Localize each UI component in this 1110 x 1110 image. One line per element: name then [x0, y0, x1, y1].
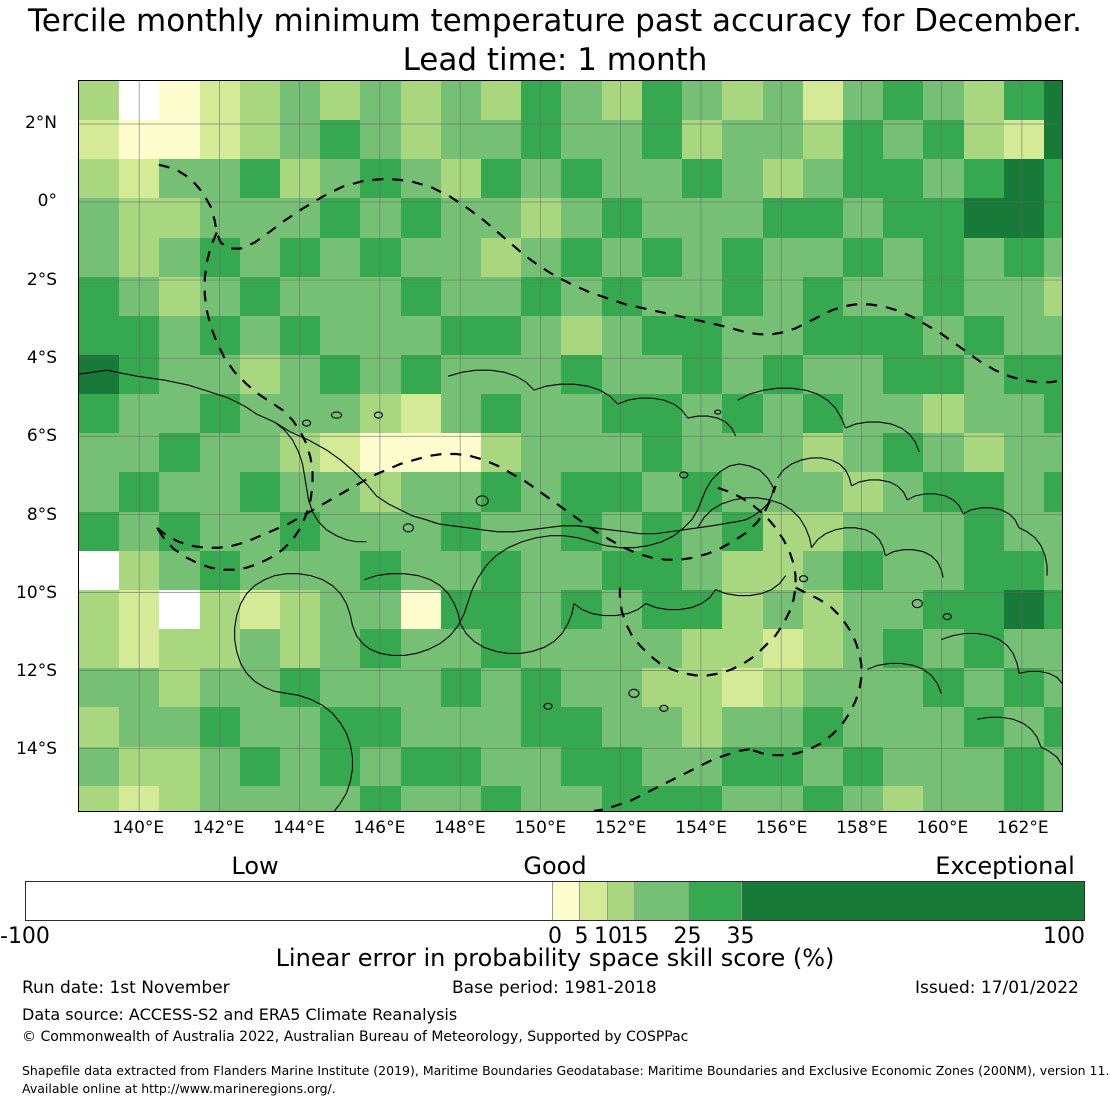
grid-cell — [843, 472, 884, 512]
grid-cell — [964, 512, 1005, 552]
grid-cell — [481, 198, 522, 238]
grid-cell — [964, 159, 1005, 199]
grid-cell — [401, 433, 442, 473]
grid-cell — [803, 316, 844, 356]
shapefile-line-1: Shapefile data extracted from Flanders M… — [22, 1062, 1109, 1080]
grid-cell — [159, 81, 200, 121]
grid-cell — [360, 394, 401, 434]
grid-cell — [561, 394, 602, 434]
grid-cell — [642, 394, 683, 434]
grid-cell — [401, 277, 442, 317]
grid-cell — [964, 707, 1005, 747]
grid-cell — [200, 316, 241, 356]
grid-cell — [521, 238, 562, 278]
grid-cell — [79, 316, 120, 356]
grid-cell — [79, 629, 120, 669]
grid-cell — [722, 512, 763, 552]
grid-cell — [401, 316, 442, 356]
grid-cell — [200, 472, 241, 512]
grid-cell — [441, 238, 482, 278]
grid-cell — [280, 433, 321, 473]
grid-cell — [481, 316, 522, 356]
grid-cell — [602, 707, 643, 747]
colorbar-segment — [580, 882, 607, 920]
colorbar-category-label: Exceptional — [935, 852, 1075, 880]
grid-cell — [320, 394, 361, 434]
grid-cell — [763, 747, 804, 787]
grid-cell — [280, 277, 321, 317]
grid-cell — [883, 394, 924, 434]
grid-cell — [119, 120, 160, 160]
grid-cell — [240, 707, 281, 747]
grid-cell — [964, 472, 1005, 512]
grid-cell — [481, 590, 522, 630]
grid-cell — [360, 551, 401, 591]
grid-cell — [119, 747, 160, 787]
grid-cell — [1004, 590, 1045, 630]
grid-cell — [79, 159, 120, 199]
grid-cell — [883, 747, 924, 787]
grid-cell — [763, 198, 804, 238]
grid-cell — [843, 629, 884, 669]
grid-cell — [360, 629, 401, 669]
grid-cell — [119, 198, 160, 238]
grid-cell — [79, 355, 120, 395]
grid-cell — [923, 747, 964, 787]
lon-tick-label: 152°E — [595, 818, 647, 838]
grid-cell — [119, 394, 160, 434]
grid-cell — [843, 355, 884, 395]
grid-cell — [561, 433, 602, 473]
grid-cell — [401, 747, 442, 787]
grid-cell — [642, 120, 683, 160]
grid-cell — [320, 629, 361, 669]
grid-cell — [561, 355, 602, 395]
grid-cell — [964, 629, 1005, 669]
grid-cell — [1044, 472, 1063, 512]
grid-cell — [1044, 512, 1063, 552]
grid-cell — [561, 159, 602, 199]
grid-cell — [722, 786, 763, 812]
grid-cell — [843, 159, 884, 199]
grid-cell — [682, 198, 723, 238]
grid-cell — [682, 590, 723, 630]
lon-tick-label: 144°E — [273, 818, 325, 838]
grid-cell — [200, 433, 241, 473]
grid-cell — [561, 120, 602, 160]
grid-cell — [441, 316, 482, 356]
lat-tick-label: 4°S — [27, 348, 57, 368]
grid-cell — [200, 159, 241, 199]
grid-cell — [200, 355, 241, 395]
grid-cell — [521, 786, 562, 812]
grid-cell — [320, 668, 361, 708]
grid-cell — [521, 159, 562, 199]
grid-cell — [602, 316, 643, 356]
grid-cell — [401, 786, 442, 812]
grid-cell — [320, 433, 361, 473]
grid-cell — [1044, 668, 1063, 708]
grid-cell — [481, 668, 522, 708]
grid-cell — [441, 198, 482, 238]
data-source-text: Data source: ACCESS-S2 and ERA5 Climate … — [22, 1005, 457, 1024]
grid-cell — [803, 551, 844, 591]
grid-cell — [803, 238, 844, 278]
grid-cell — [561, 277, 602, 317]
grid-cell — [441, 512, 482, 552]
grid-cell — [159, 786, 200, 812]
grid-cell — [1044, 198, 1063, 238]
grid-cell — [803, 747, 844, 787]
grid-cell — [159, 355, 200, 395]
grid-cell — [602, 394, 643, 434]
grid-cell — [964, 590, 1005, 630]
grid-cell — [964, 433, 1005, 473]
grid-cell — [642, 198, 683, 238]
grid-cell — [79, 277, 120, 317]
grid-cell — [481, 551, 522, 591]
colorbar-segment — [608, 882, 635, 920]
lat-tick-label: 12°S — [16, 661, 57, 681]
colorbar-segment — [742, 882, 1084, 920]
grid-cell — [119, 433, 160, 473]
run-date-text: Run date: 1st November — [22, 978, 230, 998]
grid-cell — [481, 277, 522, 317]
grid-cell — [401, 198, 442, 238]
grid-cell — [1044, 551, 1063, 591]
grid-cell — [159, 707, 200, 747]
grid-cell — [401, 512, 442, 552]
grid-cell — [923, 590, 964, 630]
grid-cell — [561, 238, 602, 278]
grid-cell — [843, 512, 884, 552]
grid-cell — [240, 355, 281, 395]
lon-tick-label: 148°E — [434, 818, 486, 838]
grid-cell — [883, 707, 924, 747]
grid-cell — [843, 668, 884, 708]
grid-cell — [320, 590, 361, 630]
grid-cell — [280, 551, 321, 591]
grid-cell — [803, 590, 844, 630]
grid-cell — [1004, 668, 1045, 708]
grid-cell — [119, 668, 160, 708]
grid-cell — [79, 81, 120, 121]
grid-cell — [1004, 551, 1045, 591]
grid-cell — [119, 81, 160, 121]
grid-cell — [200, 747, 241, 787]
colorbar-segment — [26, 882, 553, 920]
grid-cell — [883, 668, 924, 708]
grid-cell — [964, 355, 1005, 395]
grid-cell — [280, 159, 321, 199]
grid-cell — [642, 316, 683, 356]
grid-cell — [923, 277, 964, 317]
lon-tick-label: 156°E — [756, 818, 808, 838]
grid-cell — [1044, 786, 1063, 812]
grid-cell — [843, 238, 884, 278]
grid-cell — [240, 472, 281, 512]
grid-cell — [722, 707, 763, 747]
grid-cell — [682, 551, 723, 591]
grid-cell — [79, 551, 120, 591]
grid-cell — [159, 747, 200, 787]
grid-cell — [1004, 707, 1045, 747]
grid-cell — [521, 629, 562, 669]
grid-cell — [240, 394, 281, 434]
grid-cell — [280, 238, 321, 278]
grid-cell — [763, 316, 804, 356]
grid-cell — [682, 472, 723, 512]
grid-cell — [280, 81, 321, 121]
grid-cell — [240, 277, 281, 317]
grid-cell — [923, 668, 964, 708]
grid-cell — [119, 238, 160, 278]
grid-cell — [803, 81, 844, 121]
grid-cell — [843, 277, 884, 317]
grid-cell — [1044, 238, 1063, 278]
grid-cell — [722, 316, 763, 356]
grid-cell — [722, 472, 763, 512]
grid-cell — [763, 120, 804, 160]
grid-cell — [521, 668, 562, 708]
grid-cell — [360, 159, 401, 199]
grid-cell — [561, 512, 602, 552]
grid-cell — [964, 81, 1005, 121]
grid-cell — [401, 707, 442, 747]
grid-cell — [481, 786, 522, 812]
grid-cell — [521, 433, 562, 473]
grid-cell — [923, 512, 964, 552]
grid-cell — [401, 355, 442, 395]
grid-cell — [883, 316, 924, 356]
grid-cell — [682, 120, 723, 160]
grid-cell — [763, 394, 804, 434]
grid-cell — [883, 238, 924, 278]
grid-cell — [79, 707, 120, 747]
grid-cell — [159, 590, 200, 630]
grid-cell — [722, 668, 763, 708]
grid-cell — [240, 629, 281, 669]
grid-cell — [280, 590, 321, 630]
grid-cell — [320, 238, 361, 278]
grid-cell — [602, 238, 643, 278]
grid-cell — [843, 551, 884, 591]
grid-cell — [200, 707, 241, 747]
grid-cell — [320, 551, 361, 591]
grid-cell — [441, 629, 482, 669]
grid-cell — [1004, 198, 1045, 238]
grid-cell — [240, 590, 281, 630]
grid-cell — [441, 81, 482, 121]
grid-cell — [200, 590, 241, 630]
grid-cell — [803, 433, 844, 473]
grid-cell — [803, 786, 844, 812]
grid-cell — [642, 707, 683, 747]
lon-tick-label: 158°E — [836, 818, 888, 838]
grid-cell — [240, 120, 281, 160]
grid-cell — [763, 512, 804, 552]
lon-tick-label: 146°E — [354, 818, 406, 838]
grid-cell — [159, 629, 200, 669]
grid-cell — [602, 159, 643, 199]
grid-cell — [159, 512, 200, 552]
grid-cell — [1044, 81, 1063, 121]
grid-cell — [722, 120, 763, 160]
grid-cell — [602, 198, 643, 238]
grid-cell — [722, 198, 763, 238]
grid-cell — [1044, 629, 1063, 669]
grid-cell — [441, 159, 482, 199]
grid-cell — [923, 786, 964, 812]
grid-cell — [200, 198, 241, 238]
grid-cell — [200, 120, 241, 160]
grid-cell — [521, 551, 562, 591]
grid-cell — [240, 81, 281, 121]
grid-cell — [1044, 433, 1063, 473]
grid-cell — [240, 159, 281, 199]
grid-cell — [923, 394, 964, 434]
lon-tick-label: 140°E — [112, 818, 164, 838]
grid-cell — [803, 707, 844, 747]
grid-cell — [280, 747, 321, 787]
grid-cell — [79, 786, 120, 812]
grid-cell — [923, 629, 964, 669]
grid-cell — [803, 472, 844, 512]
grid-cell — [119, 512, 160, 552]
grid-cell — [521, 512, 562, 552]
grid-cell — [521, 198, 562, 238]
grid-cell — [561, 707, 602, 747]
colorbar-segment — [553, 882, 580, 920]
grid-cell — [401, 472, 442, 512]
grid-cell — [883, 198, 924, 238]
grid-cell — [200, 394, 241, 434]
grid-cell — [682, 394, 723, 434]
grid-cell — [722, 551, 763, 591]
grid-cell — [481, 707, 522, 747]
grid-cell — [923, 120, 964, 160]
colorbar-category-label: Low — [231, 852, 278, 880]
grid-cell — [200, 277, 241, 317]
grid-cell — [722, 590, 763, 630]
grid-cell — [79, 668, 120, 708]
grid-cell — [682, 668, 723, 708]
grid-cell — [682, 747, 723, 787]
grid-cell — [923, 81, 964, 121]
grid-cell — [803, 394, 844, 434]
grid-cell — [159, 551, 200, 591]
grid-cell — [401, 590, 442, 630]
grid-cell — [79, 472, 120, 512]
grid-cell — [964, 120, 1005, 160]
grid-cell — [561, 629, 602, 669]
grid-cell — [360, 238, 401, 278]
lon-tick-label: 162°E — [997, 818, 1049, 838]
grid-cell — [923, 707, 964, 747]
grid-cell — [964, 238, 1005, 278]
grid-cell — [642, 786, 683, 812]
grid-cell — [79, 747, 120, 787]
grid-cell — [642, 159, 683, 199]
grid-cell — [803, 159, 844, 199]
grid-cell — [1044, 120, 1063, 160]
grid-cell — [200, 81, 241, 121]
grid-cell — [843, 433, 884, 473]
grid-cell — [159, 238, 200, 278]
lon-tick-label: 160°E — [917, 818, 969, 838]
grid-cell — [119, 316, 160, 356]
grid-cell — [803, 120, 844, 160]
grid-cell — [360, 668, 401, 708]
grid-cell — [883, 551, 924, 591]
grid-cell — [642, 629, 683, 669]
grid-cell — [602, 590, 643, 630]
grid-cell — [280, 707, 321, 747]
grid-cell — [441, 590, 482, 630]
grid-cell — [883, 81, 924, 121]
grid-cell — [240, 668, 281, 708]
grid-cell — [360, 198, 401, 238]
grid-cell — [803, 512, 844, 552]
grid-cell — [320, 472, 361, 512]
grid-cell — [481, 81, 522, 121]
grid-cell — [521, 120, 562, 160]
grid-cell — [441, 355, 482, 395]
grid-cell — [159, 394, 200, 434]
issued-date-text: Issued: 17/01/2022 — [915, 978, 1079, 998]
grid-cell — [360, 355, 401, 395]
grid-cell — [1004, 472, 1045, 512]
grid-cell — [481, 747, 522, 787]
grid-cell — [280, 120, 321, 160]
grid-cell — [883, 277, 924, 317]
lon-tick-label: 142°E — [193, 818, 245, 838]
grid-cell — [481, 472, 522, 512]
grid-cell — [964, 198, 1005, 238]
grid-cell — [320, 707, 361, 747]
grid-cell — [602, 786, 643, 812]
grid-cell — [521, 707, 562, 747]
grid-cell — [1004, 238, 1045, 278]
grid-cell — [843, 747, 884, 787]
grid-cell — [240, 238, 281, 278]
grid-cell — [360, 316, 401, 356]
grid-cell — [923, 433, 964, 473]
grid-cell — [843, 590, 884, 630]
grid-cell — [320, 786, 361, 812]
grid-cell — [401, 668, 442, 708]
lat-tick-label: 8°S — [27, 505, 57, 525]
grid-cell — [320, 159, 361, 199]
grid-cell — [1044, 316, 1063, 356]
grid-cell — [280, 512, 321, 552]
lon-tick-label: 154°E — [675, 818, 727, 838]
map-plot-area — [78, 80, 1063, 812]
grid-cell — [401, 120, 442, 160]
grid-cell — [240, 512, 281, 552]
grid-cell — [642, 668, 683, 708]
grid-cell — [401, 394, 442, 434]
grid-cell — [159, 668, 200, 708]
grid-cell — [763, 238, 804, 278]
grid-cell — [763, 590, 804, 630]
grid-cell — [1004, 512, 1045, 552]
grid-cell — [79, 590, 120, 630]
grid-cell — [119, 707, 160, 747]
grid-cell — [1004, 81, 1045, 121]
grid-cell — [561, 198, 602, 238]
lat-tick-label: 14°S — [16, 739, 57, 759]
